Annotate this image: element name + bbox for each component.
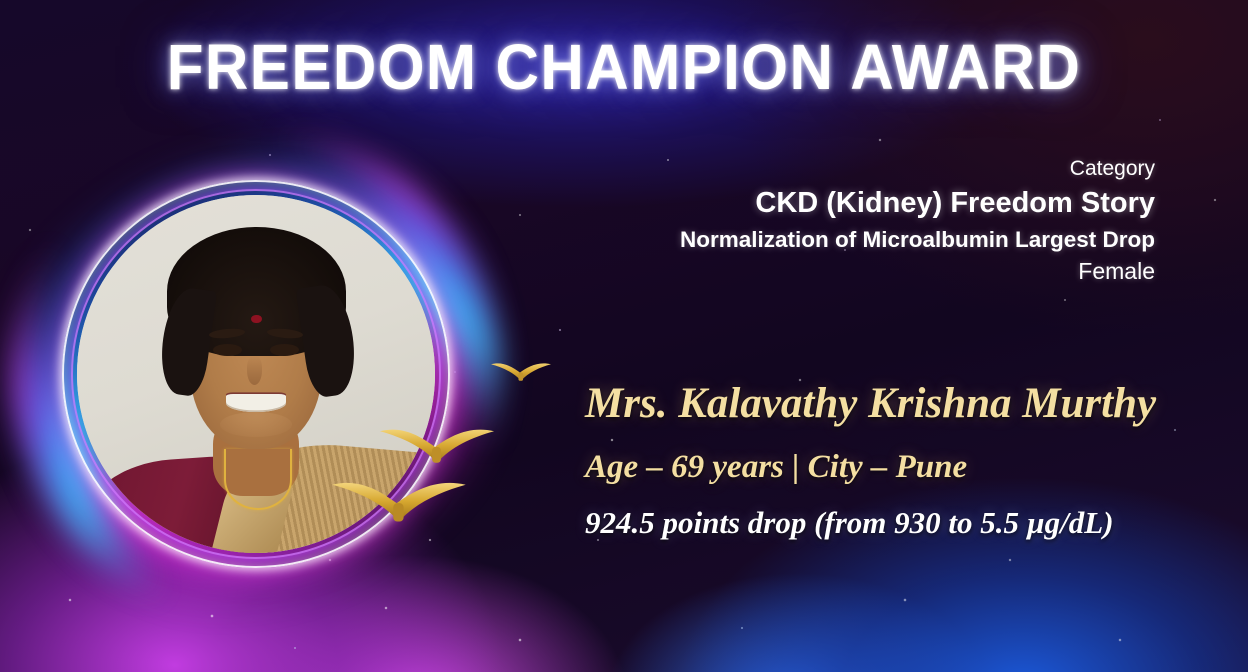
award-card: FREEDOM CHAMPION AWARD bbox=[0, 0, 1248, 672]
recipient-name: Mrs. Kalavathy Krishna Murthy bbox=[585, 378, 1235, 431]
category-name: CKD (Kidney) Freedom Story bbox=[680, 183, 1155, 224]
category-gender: Female bbox=[680, 255, 1155, 288]
bindi-icon bbox=[251, 315, 262, 324]
category-block: Category CKD (Kidney) Freedom Story Norm… bbox=[680, 155, 1155, 288]
chin-highlight bbox=[220, 412, 292, 437]
category-subtitle: Normalization of Microalbumin Largest Dr… bbox=[680, 225, 1155, 255]
bird-decoration-group bbox=[330, 355, 560, 545]
eye-left bbox=[213, 344, 242, 356]
recipient-block: Mrs. Kalavathy Krishna Murthy Age – 69 y… bbox=[585, 378, 1235, 543]
recipient-achievement: 924.5 points drop (from 930 to 5.5 µg/dL… bbox=[585, 504, 1235, 543]
necklace-icon bbox=[224, 449, 292, 510]
award-title: FREEDOM CHAMPION AWARD bbox=[37, 30, 1210, 104]
flying-bird-icon bbox=[330, 473, 468, 531]
category-label: Category bbox=[680, 155, 1155, 183]
flying-bird-icon bbox=[378, 421, 496, 471]
recipient-age-city: Age – 69 years | City – Pune bbox=[585, 447, 1235, 488]
flying-bird-icon bbox=[490, 359, 552, 385]
eye-right bbox=[270, 344, 299, 356]
